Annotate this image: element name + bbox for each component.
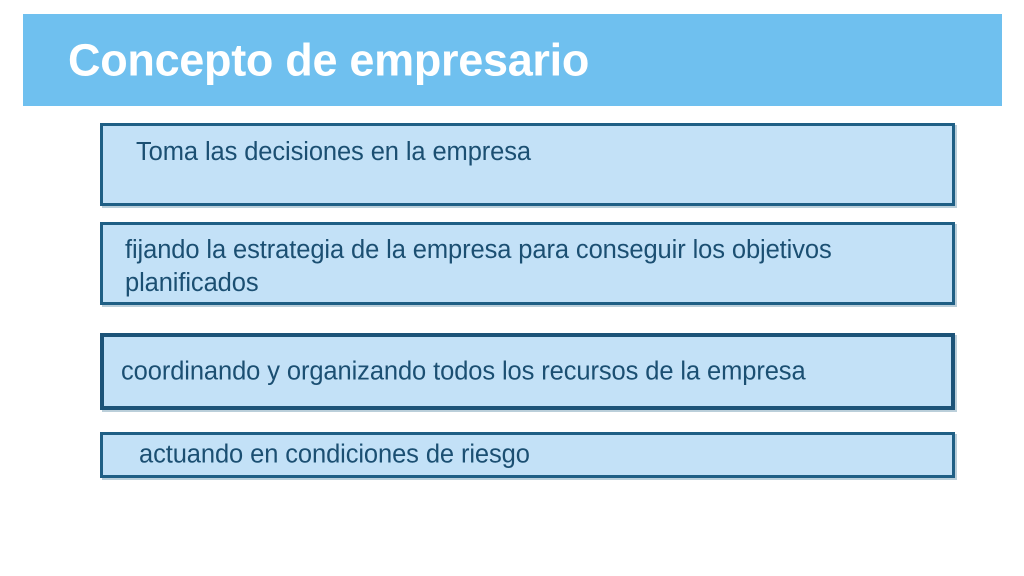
content-box-2-text: fijando la estrategia de la empresa para… bbox=[125, 234, 938, 300]
content-box-4-text: actuando en condiciones de riesgo bbox=[139, 438, 938, 471]
content-box-3-text: coordinando y organizando todos los recu… bbox=[121, 355, 937, 388]
page-title: Concepto de empresario bbox=[68, 36, 589, 83]
content-box-1[interactable]: Toma las decisiones en la empresa bbox=[100, 123, 955, 206]
content-box-2[interactable]: fijando la estrategia de la empresa para… bbox=[100, 222, 955, 305]
slide-title-bar: Concepto de empresario bbox=[23, 14, 1002, 106]
content-box-1-text: Toma las decisiones en la empresa bbox=[136, 136, 938, 169]
slide-canvas: Concepto de empresario Toma las decision… bbox=[0, 0, 1024, 576]
content-box-3[interactable]: coordinando y organizando todos los recu… bbox=[100, 333, 955, 410]
content-box-4[interactable]: actuando en condiciones de riesgo bbox=[100, 432, 955, 478]
